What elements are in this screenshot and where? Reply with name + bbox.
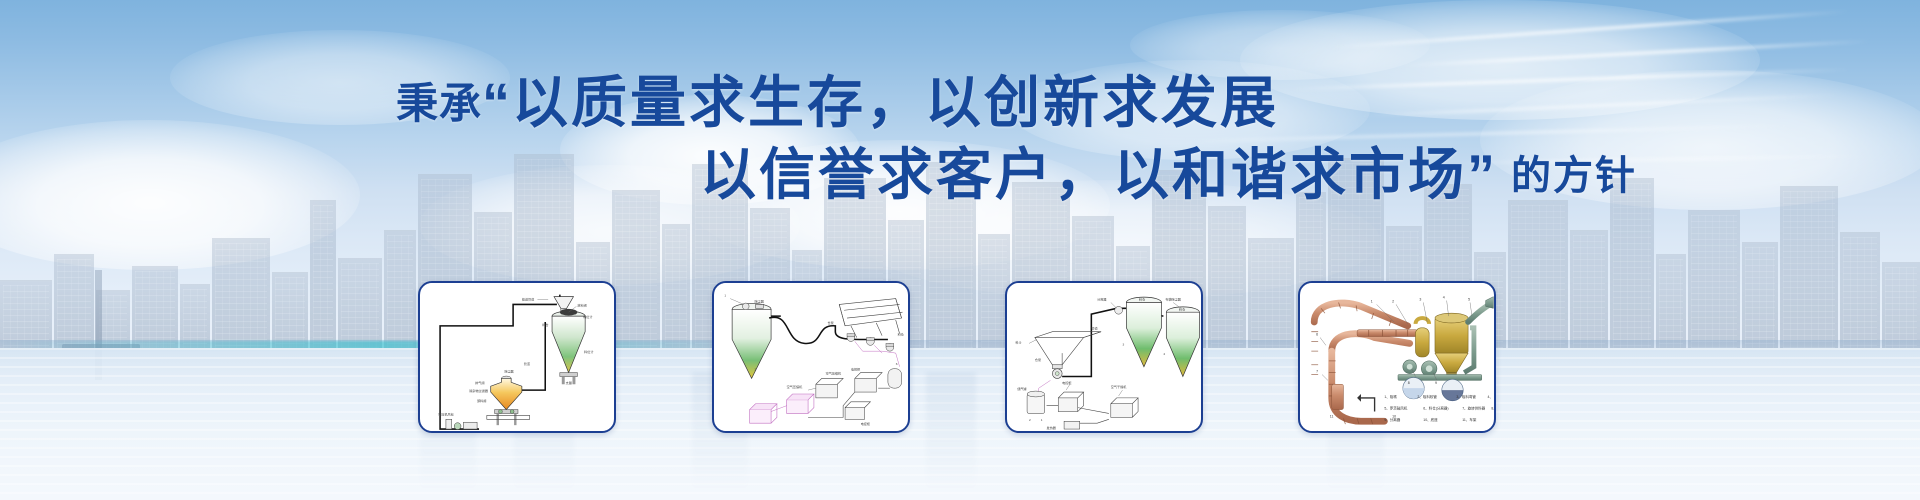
diagram-card-2[interactable]: 1 除尘器 2 <box>712 281 910 433</box>
svg-text:料位计: 料位计 <box>584 349 593 354</box>
svg-text:4: 4 <box>1443 296 1445 300</box>
svg-text:7: 7 <box>1316 370 1318 374</box>
svg-text:3: 3 <box>1419 298 1421 302</box>
svg-text:除尘器: 除尘器 <box>755 298 765 303</box>
svg-text:4、: 4、 <box>1488 395 1493 399</box>
svg-text:空气干燥机: 空气干燥机 <box>1111 384 1127 389</box>
svg-text:3、吸料弯管: 3、吸料弯管 <box>1456 394 1476 399</box>
svg-text:2: 2 <box>1392 299 1394 303</box>
svg-text:分离器: 分离器 <box>1097 297 1107 302</box>
svg-text:7、旋转供料器: 7、旋转供料器 <box>1462 406 1485 411</box>
svg-text:9: 9 <box>1435 381 1437 385</box>
svg-text:仓泵: 仓泵 <box>1035 357 1041 362</box>
svg-text:电控柜: 电控柜 <box>851 367 860 372</box>
diagram-card-4[interactable]: 12 34 5 67 89 1011 1、吸嘴 2、吸料软管 3、吸料弯管 4、… <box>1298 281 1496 433</box>
svg-text:10、底座: 10、底座 <box>1423 417 1438 422</box>
svg-text:卸料阀: 卸料阀 <box>477 398 486 403</box>
pneumatic-conveying-diagram-1: 输送管道 放料阀 料位计 料仓 料位计 支腿 除尘器 排气阀 除杂物过滤器 卸料… <box>420 283 614 431</box>
svg-text:9、分离器: 9、分离器 <box>1384 417 1400 422</box>
svg-text:6: 6 <box>896 362 898 366</box>
svg-text:布袋除尘器: 布袋除尘器 <box>1165 297 1181 302</box>
svg-text:1、吸嘴: 1、吸嘴 <box>1384 394 1397 399</box>
svg-text:排气阀: 排气阀 <box>475 380 484 385</box>
headline-main-1: 以质量求生存，以创新求发展 <box>512 71 1279 134</box>
svg-text:1: 1 <box>1371 299 1373 303</box>
svg-text:空气压缩机: 空气压缩机 <box>826 371 842 376</box>
svg-text:料仓: 料仓 <box>542 322 549 327</box>
svg-text:8、: 8、 <box>1491 407 1494 411</box>
headline-suffix: 的方针 <box>1511 154 1637 198</box>
svg-text:料位计: 料位计 <box>583 314 592 319</box>
svg-text:1: 1 <box>1041 418 1043 422</box>
svg-text:8: 8 <box>1408 381 1410 385</box>
svg-text:空气压缩机: 空气压缩机 <box>787 384 803 389</box>
svg-text:空压机风包: 空压机风包 <box>438 411 454 416</box>
headline-prefix: 秉承 <box>396 80 482 127</box>
svg-text:储气罐: 储气罐 <box>1017 386 1026 391</box>
diagram-card-3[interactable]: 料仓 3 料仓 4 布袋除尘器 分离器 <box>1005 281 1203 433</box>
svg-text:发热器: 发热器 <box>1047 425 1057 430</box>
svg-text:料仓: 料仓 <box>1179 306 1186 311</box>
svg-text:电控柜: 电控柜 <box>861 421 870 426</box>
svg-text:仓泵: 仓泵 <box>828 320 834 325</box>
svg-text:料斗: 料斗 <box>1015 339 1021 344</box>
svg-text:5: 5 <box>1468 298 1470 302</box>
svg-text:电控柜: 电控柜 <box>1062 380 1071 385</box>
svg-text:6、料仓(分离器): 6、料仓(分离器) <box>1423 406 1448 411</box>
diagram-card-1[interactable]: 输送管道 放料阀 料位计 料仓 料位计 支腿 除尘器 排气阀 除杂物过滤器 卸料… <box>418 281 616 433</box>
svg-text:2: 2 <box>755 368 757 372</box>
pneumatic-conveying-diagram-4: 12 34 5 67 89 1011 1、吸嘴 2、吸料软管 3、吸料弯管 4、… <box>1300 283 1494 431</box>
svg-text:1: 1 <box>724 294 726 298</box>
svg-text:11: 11 <box>1330 414 1334 418</box>
svg-text:管道: 管道 <box>524 361 530 366</box>
svg-text:3: 3 <box>1123 342 1125 346</box>
open-quote: “ <box>482 71 512 134</box>
svg-text:支腿: 支腿 <box>566 380 573 385</box>
svg-text:2: 2 <box>1029 418 1031 422</box>
svg-text:料仓: 料仓 <box>1139 297 1146 302</box>
headline-block: 秉承“以质量求生存，以创新求发展 以信誉求客户，以和谐求市场”的方针 <box>0 0 1920 240</box>
pneumatic-conveying-diagram-3: 料仓 3 料仓 4 布袋除尘器 分离器 <box>1007 283 1201 431</box>
svg-text:料仓: 料仓 <box>898 332 905 337</box>
svg-text:11、车架: 11、车架 <box>1462 417 1477 422</box>
close-quote: ” <box>1467 143 1497 206</box>
headline-main-2: 以信誉求客户，以和谐求市场 <box>700 143 1467 206</box>
diagram-card-row: 输送管道 放料阀 料位计 料仓 料位计 支腿 除尘器 排气阀 除杂物过滤器 卸料… <box>0 281 1920 441</box>
svg-text:除尘器: 除尘器 <box>504 369 514 374</box>
svg-text:放料阀: 放料阀 <box>577 302 586 307</box>
svg-text:输送管道: 输送管道 <box>522 297 534 302</box>
svg-text:管道: 管道 <box>1091 326 1097 331</box>
svg-text:6: 6 <box>1316 333 1318 337</box>
svg-text:2、吸料软管: 2、吸料软管 <box>1417 394 1437 399</box>
headline-line-2: 以信誉求客户，以和谐求市场”的方针 <box>700 130 1637 211</box>
pneumatic-conveying-diagram-2: 1 除尘器 2 <box>714 283 908 431</box>
svg-text:除杂物过滤器: 除杂物过滤器 <box>469 388 489 393</box>
svg-text:4: 4 <box>1163 352 1165 356</box>
svg-text:5、罗茨鼓风机: 5、罗茨鼓风机 <box>1384 406 1407 411</box>
headline-line-1: 秉承“以质量求生存，以创新求发展 <box>396 58 1279 139</box>
promo-banner: 秉承“以质量求生存，以创新求发展 以信誉求客户，以和谐求市场”的方针 <box>0 0 1920 500</box>
